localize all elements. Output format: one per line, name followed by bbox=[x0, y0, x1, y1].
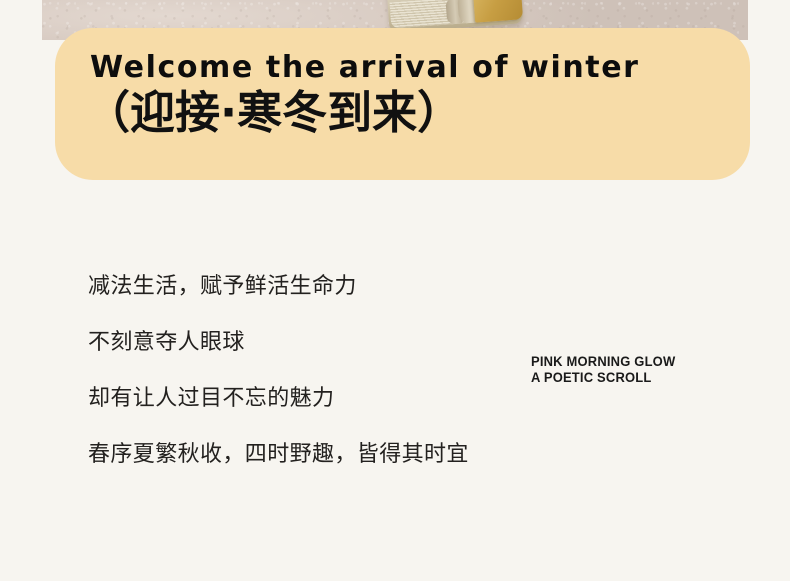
scroll-cover bbox=[473, 0, 523, 23]
caption-line-1: PINK MORNING GLOW bbox=[531, 354, 675, 370]
body-copy: 减法生活，赋予鲜活生命力 不刻意夺人眼球 却有让人过目不忘的魅力 春序夏繁秋收，… bbox=[88, 276, 518, 466]
page-root: Welcome the arrival of winter （迎接·寒冬到来） … bbox=[0, 0, 790, 581]
title-english: Welcome the arrival of winter bbox=[90, 50, 640, 85]
body-line-3: 却有让人过目不忘的魅力 bbox=[88, 388, 518, 410]
caption-line-2: A POETIC SCROLL bbox=[531, 370, 675, 386]
body-line-4: 春序夏繁秋收，四时野趣，皆得其时宜 bbox=[88, 444, 518, 466]
title-card: Welcome the arrival of winter （迎接·寒冬到来） bbox=[55, 28, 750, 180]
english-caption: PINK MORNING GLOW A POETIC SCROLL bbox=[531, 354, 681, 385]
title-chinese: （迎接·寒冬到来） bbox=[85, 88, 462, 138]
body-line-2: 不刻意夺人眼球 bbox=[88, 332, 518, 354]
body-line-1: 减法生活，赋予鲜活生命力 bbox=[88, 276, 518, 298]
